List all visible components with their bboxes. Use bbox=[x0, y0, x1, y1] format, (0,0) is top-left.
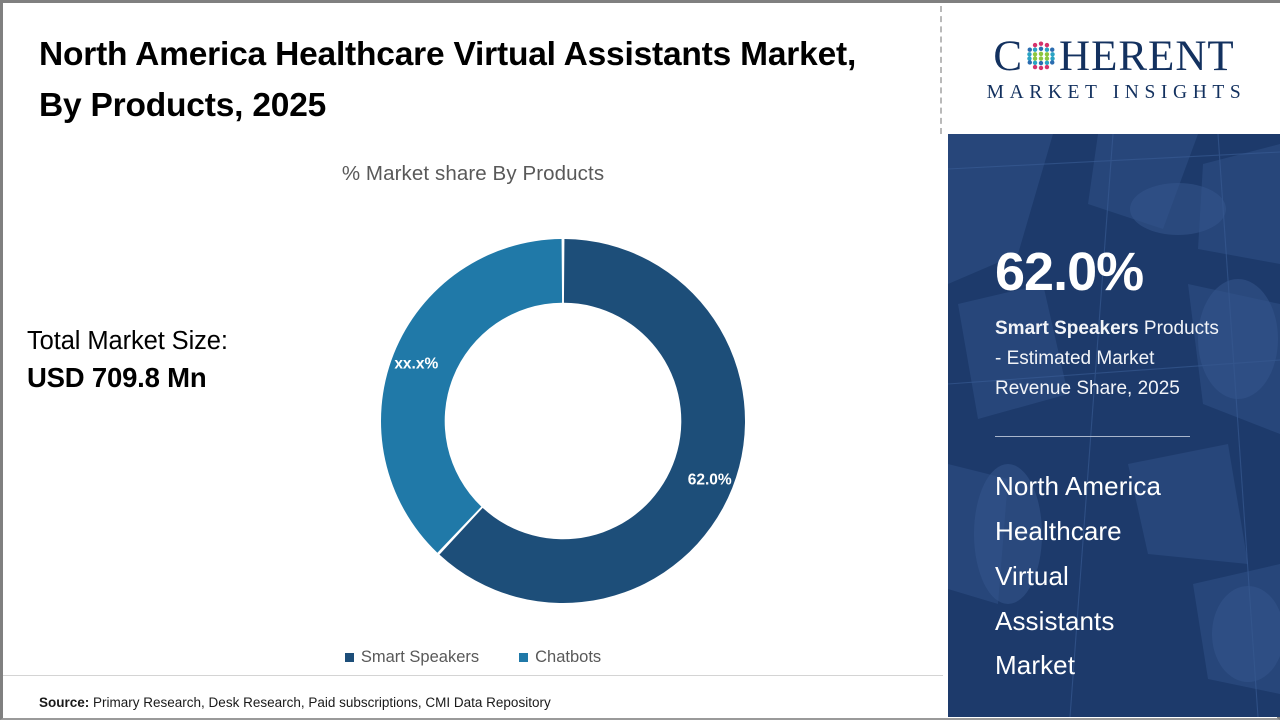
page-title: North America Healthcare Virtual Assista… bbox=[39, 30, 869, 132]
donut-label-smart-speakers: 62.0% bbox=[688, 472, 732, 489]
legend-label: Chatbots bbox=[535, 648, 601, 667]
stat-desc-line3: Revenue Share, 2025 bbox=[995, 378, 1180, 399]
market-name: North America Healthcare Virtual Assista… bbox=[995, 464, 1270, 688]
legend-swatch-icon bbox=[519, 653, 528, 662]
logo[interactable]: C bbox=[948, 3, 1280, 134]
legend-item-chatbots[interactable]: Chatbots bbox=[519, 648, 601, 667]
vertical-dashed-divider bbox=[940, 6, 942, 134]
total-market-size-value: USD 709.8 Mn bbox=[27, 359, 228, 396]
total-market-size-label: Total Market Size: bbox=[27, 325, 228, 359]
highlight-panel: 62.0% Smart Speakers Products - Estimate… bbox=[948, 134, 1280, 717]
legend-swatch-icon bbox=[345, 653, 354, 662]
source-text: Primary Research, Desk Research, Paid su… bbox=[93, 695, 551, 710]
market-name-line2: Healthcare bbox=[995, 516, 1122, 546]
source-label: Source: bbox=[39, 695, 89, 710]
dotted-globe-icon bbox=[1024, 39, 1058, 73]
market-name-line3: Virtual bbox=[995, 561, 1069, 591]
legend-label: Smart Speakers bbox=[361, 648, 479, 667]
legend-item-smart-speakers[interactable]: Smart Speakers bbox=[345, 648, 479, 667]
donut-chart: 62.0% xx.x% bbox=[363, 221, 763, 621]
stat-desc-line2: - Estimated Market bbox=[995, 348, 1154, 369]
infographic-frame: North America Healthcare Virtual Assista… bbox=[0, 0, 1280, 720]
logo-wordmark-rest: HERENT bbox=[1059, 35, 1235, 78]
logo-tagline: MARKET INSIGHTS bbox=[982, 82, 1247, 104]
stat-segment-name: Smart Speakers bbox=[995, 318, 1139, 339]
chart-legend: Smart Speakers Chatbots bbox=[3, 648, 943, 667]
source-divider bbox=[3, 675, 943, 676]
market-name-line4: Assistants bbox=[995, 606, 1115, 636]
market-name-line1: North America bbox=[995, 471, 1161, 501]
chart-subtitle: % Market share By Products bbox=[3, 162, 943, 186]
source-note: Source: Primary Research, Desk Research,… bbox=[39, 695, 551, 710]
brand-pane: C bbox=[948, 3, 1280, 717]
total-market-size: Total Market Size: USD 709.8 Mn bbox=[27, 325, 228, 396]
market-name-line5: Market bbox=[995, 650, 1075, 680]
donut-label-chatbots: xx.x% bbox=[394, 355, 438, 372]
donut-slice-chatbots[interactable] bbox=[381, 239, 562, 553]
stat-description: Smart Speakers Products - Estimated Mark… bbox=[995, 314, 1270, 403]
highlight-content: 62.0% Smart Speakers Products - Estimate… bbox=[995, 134, 1270, 688]
stat-desc-line1: Products bbox=[1139, 318, 1219, 339]
logo-letter-c: C bbox=[993, 35, 1023, 78]
logo-wordmark: C bbox=[993, 33, 1234, 79]
chart-pane: North America Healthcare Virtual Assista… bbox=[3, 3, 943, 717]
panel-divider bbox=[995, 436, 1190, 437]
stat-percentage: 62.0% bbox=[995, 245, 1270, 299]
